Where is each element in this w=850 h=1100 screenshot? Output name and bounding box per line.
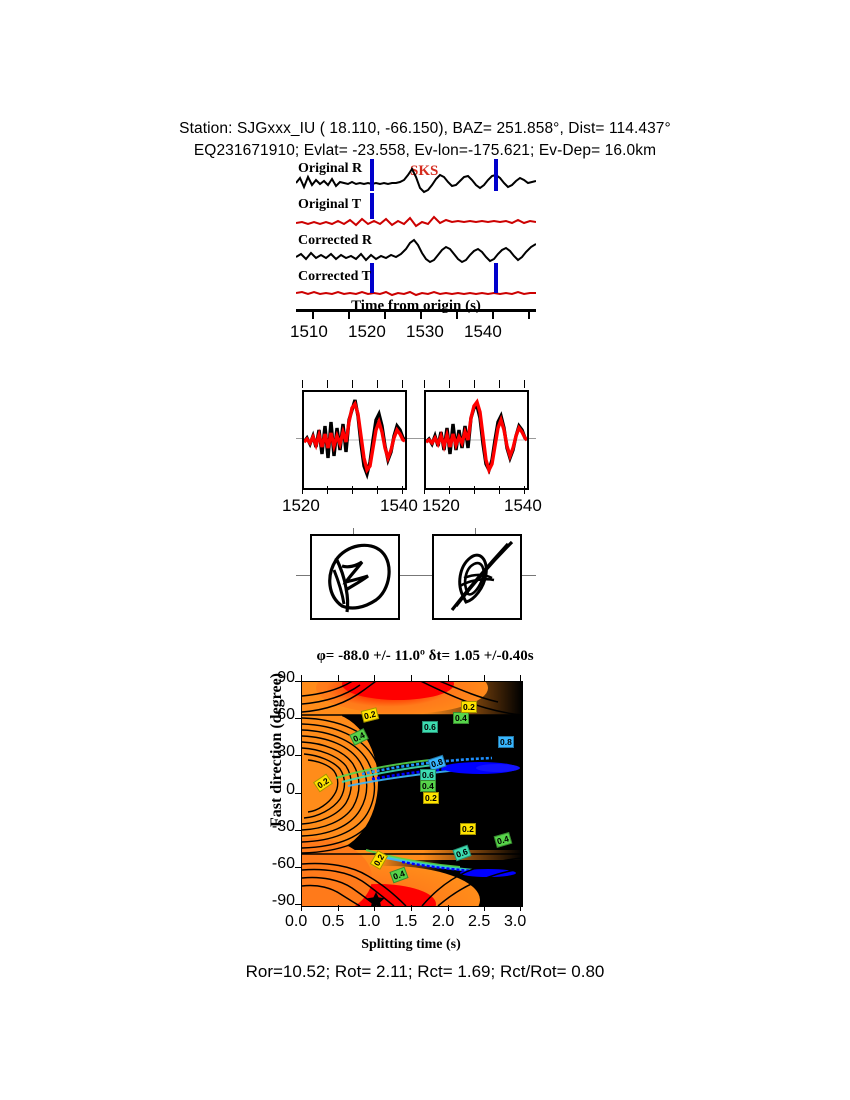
fs-midline-tick — [405, 438, 424, 439]
contour-label: 0.2 — [423, 792, 439, 804]
time-tick-label: 1510 — [290, 322, 328, 342]
hodogram-path — [312, 536, 398, 618]
contour-label: 0.4 — [420, 780, 436, 792]
trace-label: Corrected T — [298, 269, 371, 285]
fs-top-ticks-right — [424, 380, 525, 390]
fs-tick-label: 1540 — [504, 496, 542, 516]
trace-original-t: Original T — [296, 199, 536, 235]
x-tick-label: 2.0 — [432, 913, 454, 931]
axis-tick — [348, 312, 350, 319]
fs-waveform-pair — [426, 392, 527, 488]
y-tick-label: -60 — [272, 855, 295, 873]
trace-label: Original T — [298, 197, 361, 213]
x-axis-label: Splitting time (s) — [301, 937, 521, 953]
time-tick-labels: 1510 1520 1530 1540 — [266, 322, 566, 344]
energy-contours — [302, 682, 522, 906]
figure-header: Station: SJGxxx_IU ( 18.110, -66.150), B… — [0, 118, 850, 162]
energy-map-canvas: 0.2 0.4 0.2 0.6 0.4 0.2 0.8 0.8 0.6 0.4 … — [301, 681, 523, 907]
event-info-line: EQ231671910; Evlat= -23.558, Ev-lon=-175… — [0, 140, 850, 162]
fs-tick-label: 1520 — [282, 496, 320, 516]
time-axis-bar — [296, 306, 536, 316]
hodo-axis-tick — [296, 575, 310, 576]
fs-waveform-pair — [304, 392, 405, 488]
window-marker-start — [370, 159, 374, 191]
fs-tick-label: 1540 — [380, 496, 418, 516]
x-tick-label: 0.5 — [322, 913, 344, 931]
fs-tick-label: 1520 — [422, 496, 460, 516]
contour-label: 0.8 — [498, 736, 514, 748]
trace-label: Original R — [298, 161, 362, 177]
splitting-result-title: φ= -88.0 +/- 11.0º δt= 1.05 +/-0.40s — [0, 648, 850, 665]
contour-label: 0.6 — [422, 721, 438, 733]
axis-tick — [384, 312, 386, 319]
fs-top-ticks-left — [302, 380, 403, 390]
hodo-axis-tick — [396, 575, 432, 576]
particle-motion-uncorrected — [310, 534, 400, 620]
y-axis-tick-labels: 90 60 30 0 -30 -60 -90 — [237, 669, 295, 919]
y-tick-label: 0 — [286, 781, 295, 799]
fs-bottom-ticks-left — [302, 486, 403, 496]
x-tick-label: 3.0 — [504, 913, 526, 931]
hodogram-path — [434, 536, 520, 618]
trace-corrected-r: Corrected R — [296, 235, 536, 271]
window-marker-end — [494, 159, 498, 191]
window-marker-end — [494, 263, 498, 293]
fast-slow-box-corrected — [424, 390, 529, 490]
y-tick-label: -90 — [272, 892, 295, 910]
particle-motion-corrected — [432, 534, 522, 620]
x-tick-label: 1.5 — [395, 913, 417, 931]
y-tick-label: -30 — [272, 818, 295, 836]
x-tick-label: 0.0 — [285, 913, 307, 931]
time-tick-label: 1530 — [406, 322, 444, 342]
trace-label: Corrected R — [298, 233, 372, 249]
axis-line — [296, 309, 536, 312]
fs-bottom-ticks-right — [424, 486, 525, 496]
energy-map-panel: Fast direction (degree) 90 60 30 0 -30 -… — [301, 681, 521, 905]
axis-tick — [456, 312, 458, 319]
time-axis: Time from origin (s) 1510 1520 1530 1540 — [296, 306, 536, 316]
fast-slow-waveform-panel: 1520 1540 1520 1540 — [296, 380, 536, 520]
y-tick-label: 60 — [277, 706, 295, 724]
contour-label: 0.2 — [461, 701, 477, 713]
axis-tick — [420, 312, 422, 319]
x-tick-label: 2.5 — [468, 913, 490, 931]
axis-tick — [528, 312, 530, 319]
y-tick-label: 90 — [277, 669, 295, 687]
time-tick-label: 1520 — [348, 322, 386, 342]
fs-tick-labels: 1520 1540 1520 1540 — [282, 496, 562, 520]
x-axis-tick-labels: 0.0 0.5 1.0 1.5 2.0 2.5 3.0 — [283, 913, 543, 935]
trace-original-r: Original R — [296, 163, 536, 199]
station-info-line: Station: SJGxxx_IU ( 18.110, -66.150), B… — [0, 118, 850, 140]
time-tick-label: 1540 — [464, 322, 502, 342]
y-tick-label: 30 — [277, 743, 295, 761]
axis-tick — [492, 312, 494, 319]
quality-stats: Ror=10.52; Rot= 2.11; Rct= 1.69; Rct/Rot… — [0, 962, 850, 982]
contour-label: 0.4 — [453, 712, 469, 724]
window-marker-start — [370, 193, 374, 219]
axis-tick — [312, 312, 314, 319]
particle-motion-panel — [296, 528, 536, 628]
fast-slow-box-uncorrected — [302, 390, 407, 490]
x-tick-label: 1.0 — [358, 913, 380, 931]
contour-label: 0.2 — [460, 823, 476, 835]
waveform-stack-panel: Original R Original T Corrected R Correc… — [296, 163, 536, 313]
